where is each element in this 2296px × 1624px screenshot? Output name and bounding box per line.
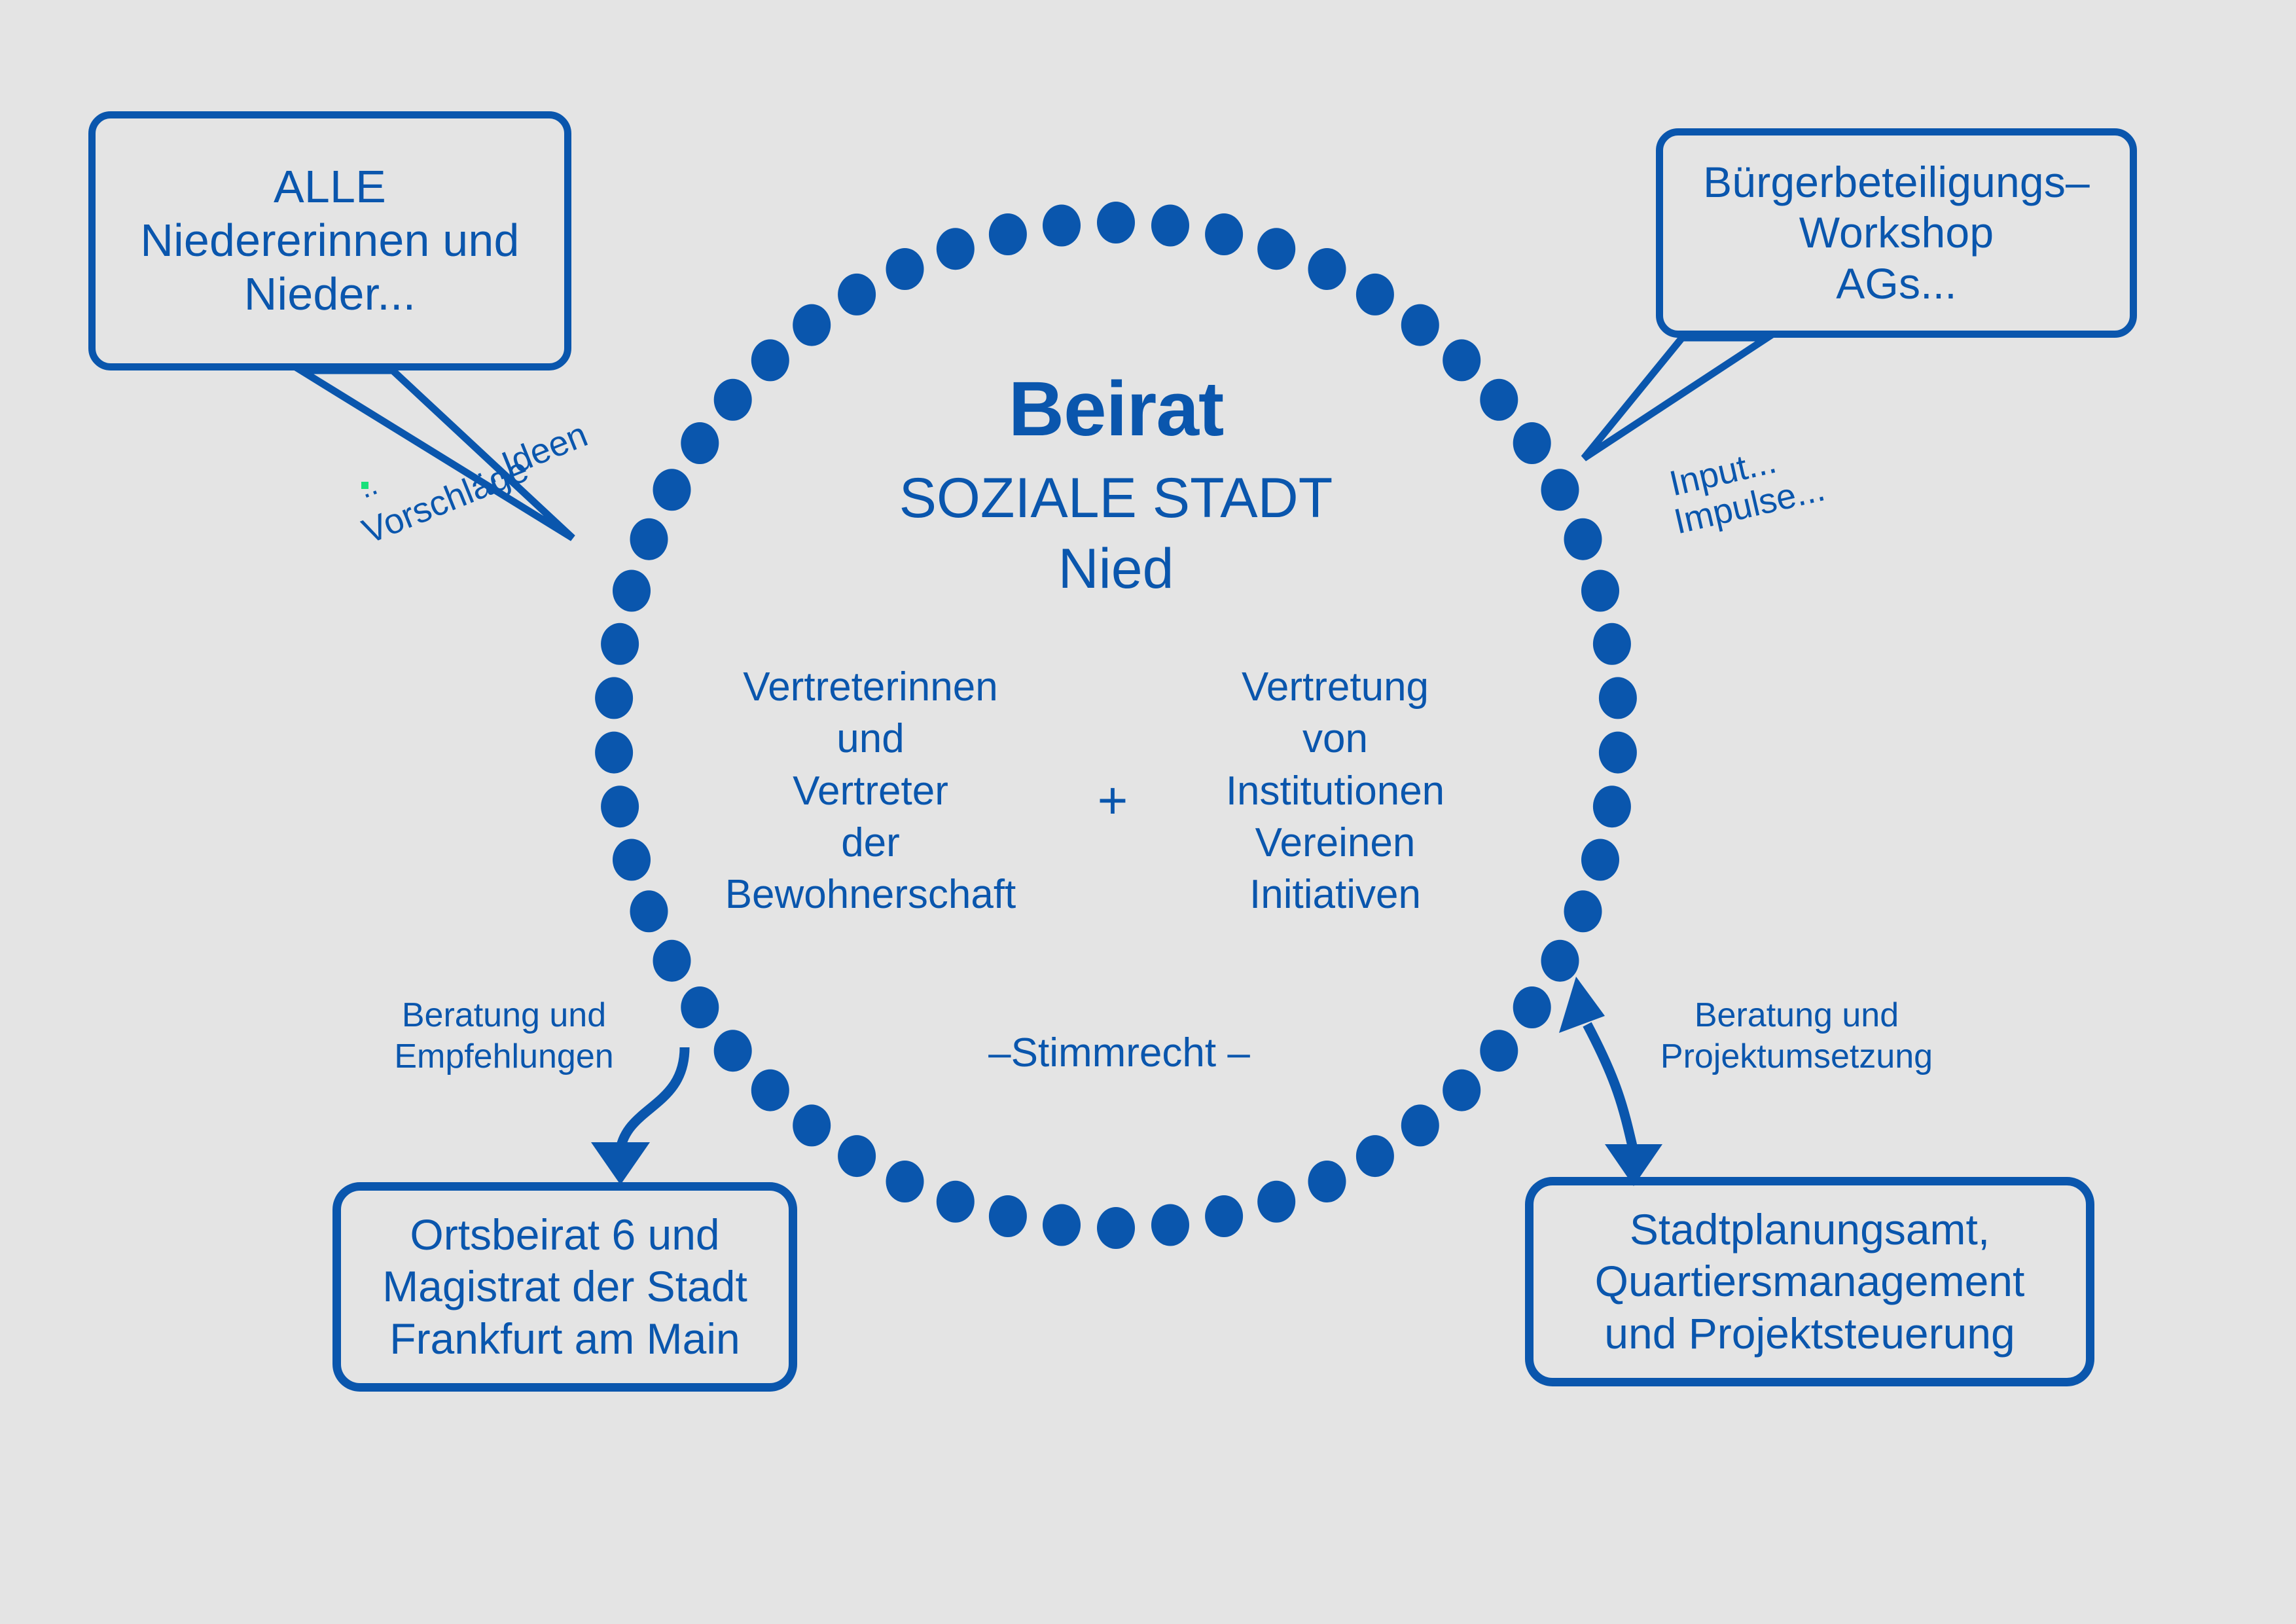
arrow-to-stadtplanung	[1587, 1024, 1633, 1149]
annotation-beratung-projektumsetzung: Beratung und Projektumsetzung	[1643, 995, 1950, 1078]
members-column-residents: Vertreterinnen und Vertreter der Bewohne…	[687, 661, 1054, 921]
box-stadtplanungsamt[interactable]: Stadtplanungsamt, Quartiersmanagement un…	[1525, 1177, 2094, 1386]
speech-bubble-residents[interactable]: ALLE Niedererinnen und Nieder...	[88, 111, 571, 370]
arrow-head-up-right	[1559, 977, 1605, 1033]
right-bubble-tail	[1584, 338, 1767, 458]
page-title: Beirat	[887, 363, 1345, 456]
green-marker-icon	[361, 482, 368, 489]
plus-icon: +	[1073, 769, 1152, 832]
speech-bubble-workshop[interactable]: Bürgerbeteiligungs– Workshop AGs...	[1656, 128, 2137, 338]
page-subtitle-district: Nied	[854, 535, 1378, 603]
box-stadtplanungsamt-text: Stadtplanungsamt, Quartiersmanagement un…	[1595, 1204, 2025, 1360]
speech-bubble-residents-text: ALLE Niedererinnen und Nieder...	[140, 160, 519, 321]
page-subtitle-program: SOZIALE STADT	[854, 465, 1378, 532]
speech-bubble-workshop-text: Bürgerbeteiligungs– Workshop AGs...	[1703, 157, 2090, 309]
annotation-beratung-empfehlungen: Beratung und Empfehlungen	[367, 995, 641, 1078]
arrow-head-down-left	[591, 1142, 650, 1185]
diagram-canvas: ALLE Niedererinnen und Nieder... Bürgerb…	[0, 0, 2296, 1624]
members-column-institutions: Vertretung von Institutionen Vereinen In…	[1178, 661, 1492, 921]
box-ortsbeirat-magistrat[interactable]: Ortsbeirat 6 und Magistrat der Stadt Fra…	[332, 1182, 797, 1392]
box-ortsbeirat-magistrat-text: Ortsbeirat 6 und Magistrat der Stadt Fra…	[382, 1209, 747, 1365]
voting-rights-note: –Stimmrecht –	[916, 1029, 1322, 1077]
